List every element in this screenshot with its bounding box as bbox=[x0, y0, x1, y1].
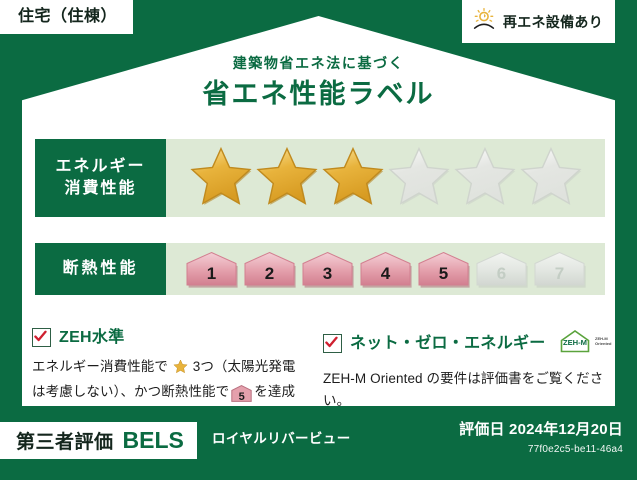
zeh-body-part1: エネルギー消費性能で bbox=[32, 359, 168, 374]
insulation-grade-value: 1 bbox=[207, 265, 216, 289]
insulation-grade-badge-inactive: 7 bbox=[531, 250, 588, 289]
renewable-energy-chip: 再エネ設備あり bbox=[462, 0, 615, 43]
zeh-checkbox-checked-icon bbox=[32, 328, 51, 347]
star-filled-icon bbox=[255, 145, 319, 212]
star-empty-icon bbox=[519, 145, 583, 212]
insulation-grade-badge-active: 3 bbox=[299, 250, 356, 289]
label-main-title: 省エネ性能ラベル bbox=[0, 81, 637, 108]
insulation-performance-label-box: 断熱性能 bbox=[35, 243, 166, 295]
net-zero-energy-heading: ネット・ゼロ・エネルギー ZEH-M ZEH-M Oriented bbox=[323, 328, 608, 359]
insulation-grade-badge-active: 1 bbox=[183, 250, 240, 289]
label-subtitle: 建築物省エネ法に基づく bbox=[0, 56, 637, 70]
insulation-grade-badge-inactive: 6 bbox=[473, 250, 530, 289]
energy-performance-label: 住宅（住棟） 再エネ設備あり 建築物省エネ法に基づく bbox=[0, 0, 637, 480]
zeh-body-part3: を達成 bbox=[254, 384, 295, 399]
energy-label-line2: 消費性能 bbox=[64, 178, 136, 200]
title-block: 建築物省エネ法に基づく 省エネ性能ラベル bbox=[0, 56, 637, 108]
insulation-grade-badge-active: 4 bbox=[357, 250, 414, 289]
net-zero-checkbox-checked-icon bbox=[323, 334, 342, 353]
insulation-grade-value: 7 bbox=[555, 265, 564, 289]
energy-performance-row: エネルギー 消費性能 bbox=[35, 139, 605, 217]
insulation-grade-scale: 1234567 bbox=[166, 243, 605, 295]
inline-grade-value: 5 bbox=[239, 391, 245, 403]
label-footer: 第三者評価 BELS ロイヤルリバービュー 評価日 2024年12月20日 77… bbox=[0, 406, 637, 480]
bels-evaluation-label: 第三者評価 bbox=[16, 433, 114, 452]
insulation-grade-badge-active: 5 bbox=[415, 250, 472, 289]
star-empty-icon bbox=[453, 145, 517, 212]
evaluation-id: 77f0e2c5-be11-46a4 bbox=[459, 445, 623, 455]
inline-star-icon bbox=[169, 362, 192, 377]
star-filled-icon bbox=[189, 145, 253, 212]
insulation-grade-value: 2 bbox=[265, 265, 274, 289]
house-type-label: 住宅（住棟） bbox=[18, 8, 117, 25]
insulation-grade-value: 5 bbox=[439, 265, 448, 289]
star-rating bbox=[166, 139, 605, 217]
energy-performance-label-box: エネルギー 消費性能 bbox=[35, 139, 166, 217]
bels-chip: 第三者評価 BELS bbox=[0, 422, 197, 459]
net-zero-energy-title: ネット・ゼロ・エネルギー bbox=[350, 336, 546, 352]
zeh-standard-heading: ZEH水準 bbox=[32, 328, 300, 347]
building-name: ロイヤルリバービュー bbox=[212, 432, 351, 446]
star-filled-icon bbox=[321, 145, 385, 212]
insulation-label-line1: 断熱性能 bbox=[62, 258, 138, 280]
insulation-grade-value: 3 bbox=[323, 265, 332, 289]
house-type-chip: 住宅（住棟） bbox=[0, 0, 133, 34]
energy-label-line1: エネルギー bbox=[55, 156, 145, 178]
bels-mark: BELS bbox=[123, 429, 184, 452]
net-zero-energy-section: ネット・ゼロ・エネルギー ZEH-M ZEH-M Oriented ZEH-M … bbox=[323, 328, 608, 412]
svg-text:ZEH-M: ZEH-M bbox=[563, 338, 587, 347]
star-empty-icon bbox=[387, 145, 451, 212]
insulation-grade-badge-active: 2 bbox=[241, 250, 298, 289]
renewable-energy-label: 再エネ設備あり bbox=[503, 15, 603, 29]
insulation-performance-row: 断熱性能 1234567 bbox=[35, 243, 605, 295]
zeh-m-logo-icon: ZEH-M ZEH-M Oriented bbox=[558, 328, 612, 359]
zeh-standard-section: ZEH水準 エネルギー消費性能で 3つ（太陽光発電は考慮しない）、かつ断熱性能で… bbox=[32, 328, 300, 403]
evaluation-info: 評価日 2024年12月20日 77f0e2c5-be11-46a4 bbox=[459, 422, 623, 455]
zeh-standard-body: エネルギー消費性能で 3つ（太陽光発電は考慮しない）、かつ断熱性能で 5 を達成 bbox=[32, 356, 300, 403]
sun-renewable-icon bbox=[472, 7, 496, 36]
zeh-standard-title: ZEH水準 bbox=[59, 330, 125, 346]
evaluation-date: 評価日 2024年12月20日 bbox=[459, 422, 623, 437]
svg-text:Oriented: Oriented bbox=[595, 341, 612, 346]
insulation-grade-value: 4 bbox=[381, 265, 390, 289]
inline-grade-badge: 5 bbox=[231, 385, 252, 402]
insulation-grade-value: 6 bbox=[497, 265, 506, 289]
